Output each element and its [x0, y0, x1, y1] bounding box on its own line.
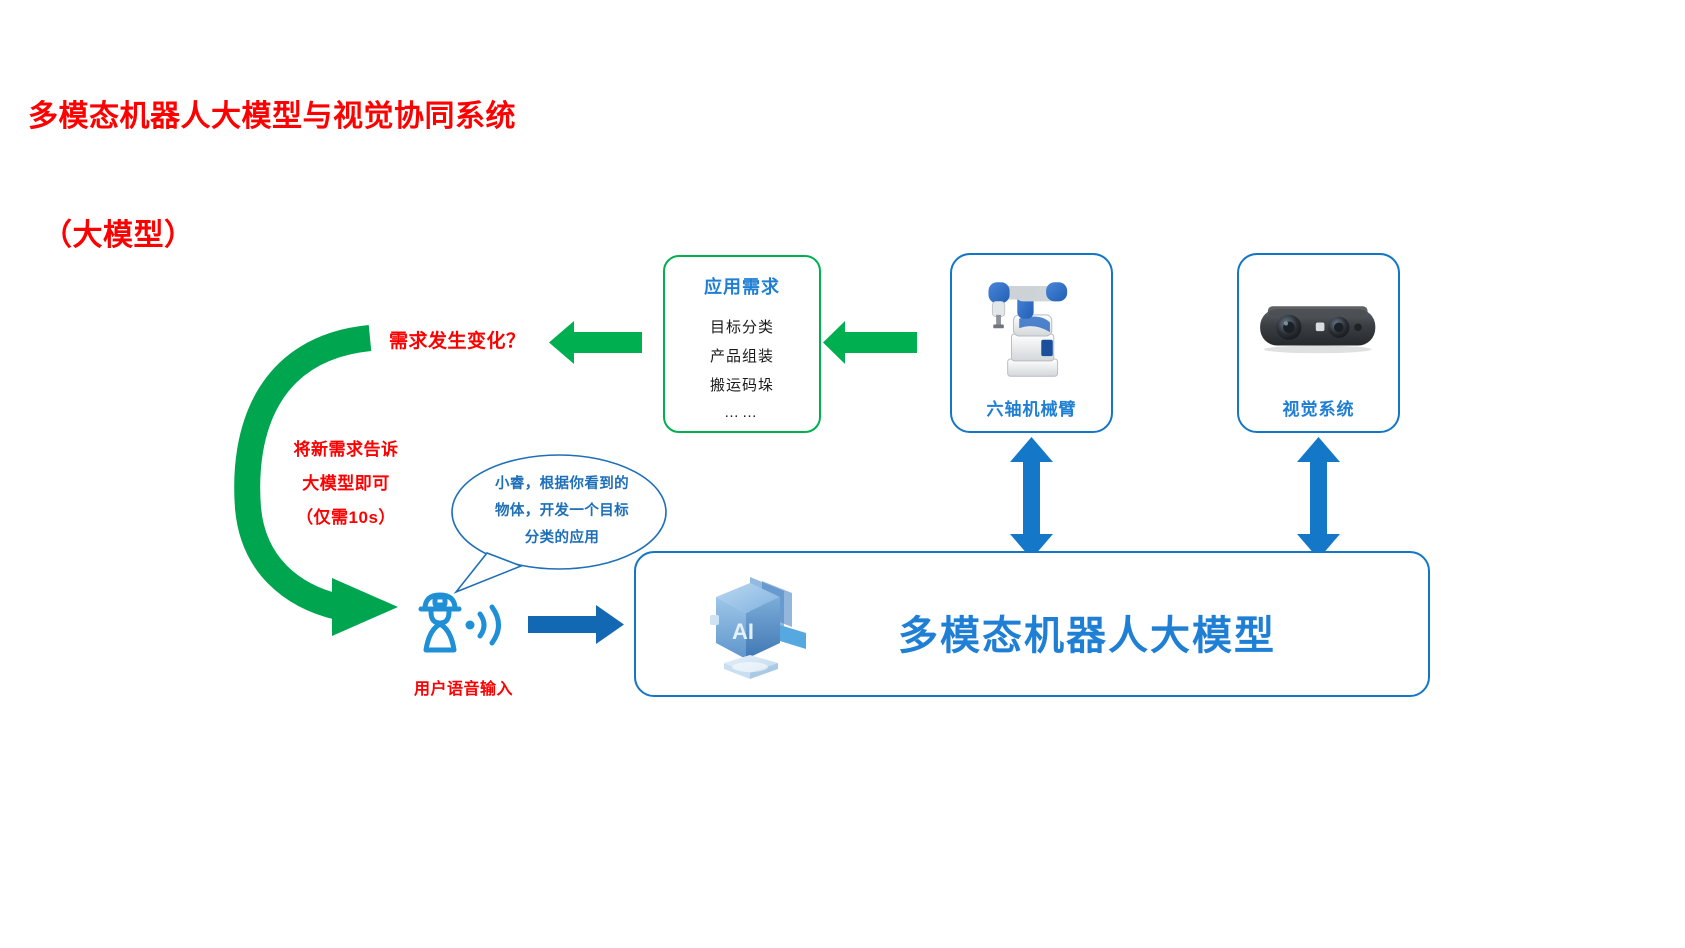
arrow-robot-to-requirements	[823, 321, 917, 364]
arrow-user-to-model	[528, 605, 624, 644]
tell-model-line-3: （仅需10s）	[283, 501, 409, 535]
application-requirements-box: 应用需求 目标分类 产品组装 搬运码垛 ……	[663, 255, 821, 433]
arrow-model-vision-bidirectional	[1297, 437, 1340, 559]
list-item: 搬运码垛	[665, 371, 819, 400]
page-title-line-1: 多模态机器人大模型与视觉协同系统	[28, 97, 516, 137]
multimodal-model-box: AI 多模态机器人大模型	[634, 551, 1430, 697]
list-item: 目标分类	[665, 313, 819, 342]
model-title: 多模态机器人大模型	[898, 603, 1276, 661]
speech-bubble-text: 小睿，根据你看到的 物体，开发一个目标 分类的应用	[478, 471, 646, 552]
svg-text:AI: AI	[732, 619, 754, 644]
ai-cube-icon: AI	[688, 567, 813, 685]
page-title: 多模态机器人大模型与视觉协同系统 （大模型）	[28, 18, 516, 295]
tell-model-line-1: 将新需求告诉	[283, 433, 409, 467]
requirements-list: 目标分类 产品组装 搬运码垛 ……	[665, 313, 819, 426]
voice-input-label: 用户语音输入	[414, 675, 513, 699]
page-title-line-2: （大模型）	[28, 216, 516, 256]
tell-model-line-2: 大模型即可	[283, 467, 409, 501]
arrow-requirements-to-question	[549, 321, 642, 364]
vision-system-box: 视觉系统	[1237, 253, 1400, 433]
requirements-heading: 应用需求	[665, 273, 819, 299]
hard-hat-person-icon	[412, 588, 517, 656]
depth-camera-icon	[1239, 263, 1395, 383]
speech-bubble: 小睿，根据你看到的 物体，开发一个目标 分类的应用	[452, 455, 666, 575]
robot-arm-box: 六轴机械臂	[950, 253, 1113, 433]
vision-system-label: 视觉系统	[1239, 395, 1398, 420]
speech-line-3: 分类的应用	[478, 525, 646, 552]
robot-arm-label: 六轴机械臂	[952, 395, 1111, 420]
six-axis-robot-arm-icon	[952, 263, 1108, 383]
arrow-model-robot-bidirectional	[1010, 437, 1053, 559]
list-item: 产品组装	[665, 342, 819, 371]
speech-line-2: 物体，开发一个目标	[478, 498, 646, 525]
list-item-ellipsis: ……	[665, 400, 819, 426]
tell-model-annotation: 将新需求告诉 大模型即可 （仅需10s）	[283, 433, 409, 535]
requirement-changed-label: 需求发生变化？	[389, 326, 526, 353]
speech-line-1: 小睿，根据你看到的	[478, 471, 646, 498]
